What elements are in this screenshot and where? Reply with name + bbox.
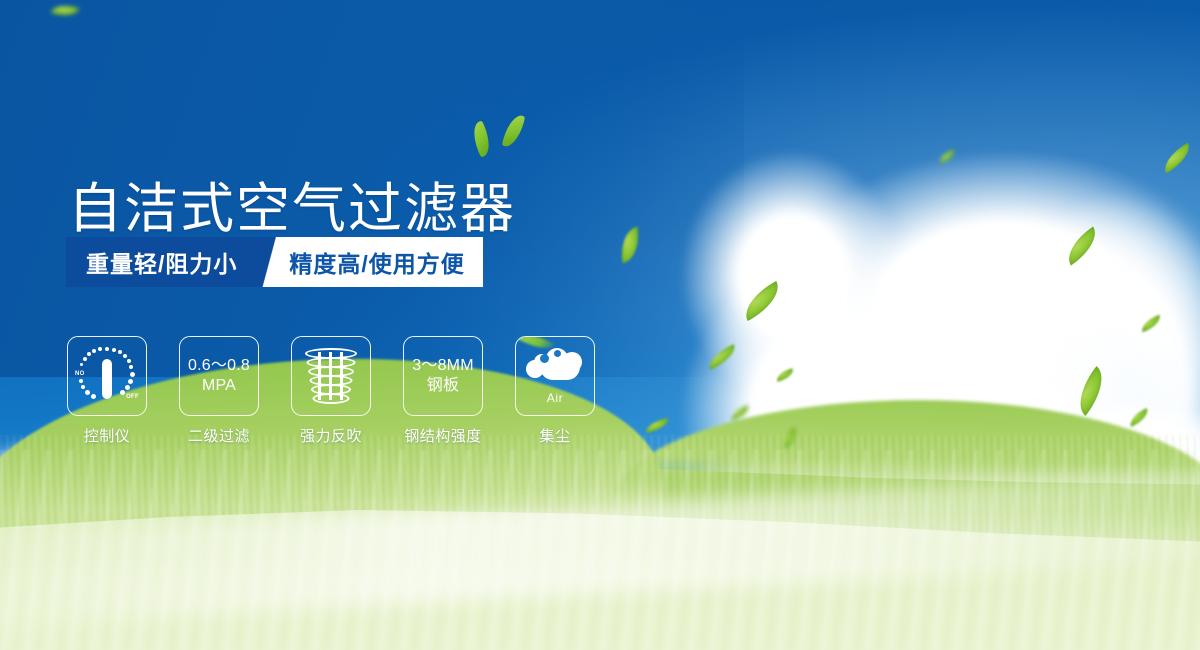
feature-label: 二级过滤 [188, 425, 250, 446]
feature-item-backwash[interactable]: 强力反吹 [290, 336, 372, 446]
feature-icon-text-line2: MPA [188, 376, 250, 396]
feature-item-controller[interactable]: NO OFF 控制仪 [66, 336, 148, 446]
product-banner: 自洁式空气过滤器 重量轻/阻力小 精度高/使用方便 [0, 0, 1200, 650]
sprout-leaves-decoration [470, 108, 540, 160]
gauge-on-label: NO [75, 371, 85, 377]
feature-icon-box [291, 336, 371, 416]
feature-icon-text-line1: 3～8MM [412, 357, 473, 374]
feature-icon-box: 3～8MM 钢板 [403, 336, 483, 416]
subtitle-slant-divider [259, 237, 285, 287]
sprout-leaf-left-icon [468, 120, 495, 157]
sprout-leaf-right-icon [502, 113, 526, 150]
feature-list: NO OFF 控制仪 0.6～0.8 MPA 二级过滤 [66, 336, 596, 446]
feature-icon-box: Air [515, 336, 595, 416]
subtitle-right-text: 精度高/使用方便 [285, 237, 482, 287]
feature-icon-box: NO OFF [67, 336, 147, 416]
subtitle-bar: 重量轻/阻力小 精度高/使用方便 [66, 237, 483, 287]
subtitle-left-text: 重量轻/阻力小 [66, 237, 259, 287]
gauge-pointer-icon [102, 359, 112, 399]
feature-icon-text-line1: 0.6～0.8 [188, 357, 250, 374]
feature-label: 钢结构强度 [404, 425, 482, 446]
gauge-icon: NO OFF [76, 347, 138, 405]
feature-label: 控制仪 [84, 425, 131, 446]
feature-item-steel-strength[interactable]: 3～8MM 钢板 钢结构强度 [402, 336, 484, 446]
page-title: 自洁式空气过滤器 [68, 182, 516, 236]
cloud-air-icon [524, 348, 586, 390]
gauge-off-label: OFF [126, 394, 139, 400]
feature-icon-text-line2: 钢板 [412, 376, 473, 396]
feature-item-dust-collection[interactable]: Air 集尘 [514, 336, 596, 446]
filter-coil-icon [306, 348, 356, 404]
feature-icon-text-line1: Air [547, 391, 563, 405]
feature-icon-text: 0.6～0.8 MPA [188, 356, 250, 396]
feature-icon-text: 3～8MM 钢板 [412, 356, 473, 396]
feature-label: 集尘 [539, 425, 570, 446]
feature-item-two-stage-filter[interactable]: 0.6～0.8 MPA 二级过滤 [178, 336, 260, 446]
feature-icon-box: 0.6～0.8 MPA [179, 336, 259, 416]
feature-label: 强力反吹 [300, 425, 362, 446]
